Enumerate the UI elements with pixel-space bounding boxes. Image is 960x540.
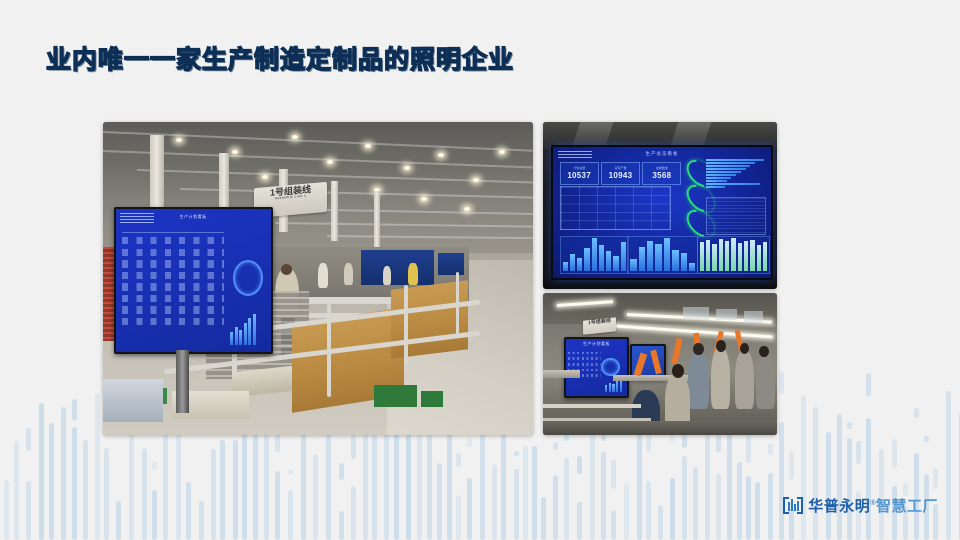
kpi-label: 在制数量 xyxy=(656,166,668,170)
factory-worker xyxy=(688,350,709,410)
kpi-card: 在制数量 3568 xyxy=(642,162,681,185)
brand-logo: 华普永明®智慧工厂 xyxy=(783,495,938,516)
production-dashboard-monitor: 生产计划看板 xyxy=(564,337,629,398)
photo-assembly-workers: 1号组装线 生产计划看板 xyxy=(543,293,777,435)
workorder-table xyxy=(706,197,767,235)
production-dashboard-screen: 生产计划看板 xyxy=(116,209,271,353)
ranking-bar-chart xyxy=(706,159,765,192)
kpi-label: 计划总量 xyxy=(573,166,585,170)
dashboard-overview-title: 生产总览看板 xyxy=(553,151,771,157)
kpi-value: 10537 xyxy=(567,171,591,180)
brand-suffix: 智慧工厂 xyxy=(876,498,938,515)
brand-logo-text: 华普永明®智慧工厂 xyxy=(808,495,938,516)
dashboard-donut-chart xyxy=(233,260,263,296)
kpi-label: 实际产量 xyxy=(615,166,627,170)
kpi-value: 3568 xyxy=(652,171,671,180)
photo-assembly-line-overview: 1号组装线 Assembly Line 1 生产计划看板 xyxy=(103,122,533,435)
dashboard-display-board: 生产总览看板 计划总量 10537 实际产量 10943 在制数量 3568 xyxy=(551,145,773,279)
slide-root: 业内唯一一家生产制造定制品的照明企业 xyxy=(0,0,960,540)
weekly-output-chart xyxy=(697,236,770,274)
kpi-card: 实际产量 10943 xyxy=(601,162,640,185)
factory-worker xyxy=(711,347,730,409)
kpi-card: 计划总量 10537 xyxy=(560,162,599,185)
dashboard-data-grid xyxy=(560,186,671,230)
photo-factory-dashboard-wall: 生产总览看板 计划总量 10537 实际产量 10943 在制数量 3568 xyxy=(543,122,777,289)
kpi-value: 10943 xyxy=(609,171,633,180)
dashboard-header-title: 生产计划看板 xyxy=(566,341,627,347)
dashboard-display-screen: 生产总览看板 计划总量 10537 实际产量 10943 在制数量 3568 xyxy=(553,147,771,277)
brand-name: 华普永明 xyxy=(808,498,870,515)
takt-time-chart xyxy=(627,236,698,274)
page-title: 业内唯一一家生产制造定制品的照明企业 xyxy=(46,40,514,76)
assembly-line-sign: 1号组装线 xyxy=(583,317,616,334)
production-dashboard-monitor: 生产计划看板 xyxy=(114,207,273,355)
factory-worker xyxy=(735,350,754,410)
hourly-output-chart xyxy=(560,236,629,274)
production-dashboard-screen: 生产计划看板 xyxy=(566,339,627,396)
photo-main-scene: 1号组装线 Assembly Line 1 生产计划看板 xyxy=(103,122,533,435)
workshop-scene: 1号组装线 生产计划看板 xyxy=(543,293,777,435)
factory-worker xyxy=(756,353,775,410)
factory-bars-logo-icon xyxy=(783,497,803,514)
dashboard-room: 生产总览看板 计划总量 10537 实际产量 10943 在制数量 3568 xyxy=(543,122,777,289)
dashboard-header-title: 生产计划看板 xyxy=(116,214,271,220)
dashboard-bar-chart xyxy=(230,314,264,346)
dashboard-donut-chart xyxy=(601,358,620,376)
